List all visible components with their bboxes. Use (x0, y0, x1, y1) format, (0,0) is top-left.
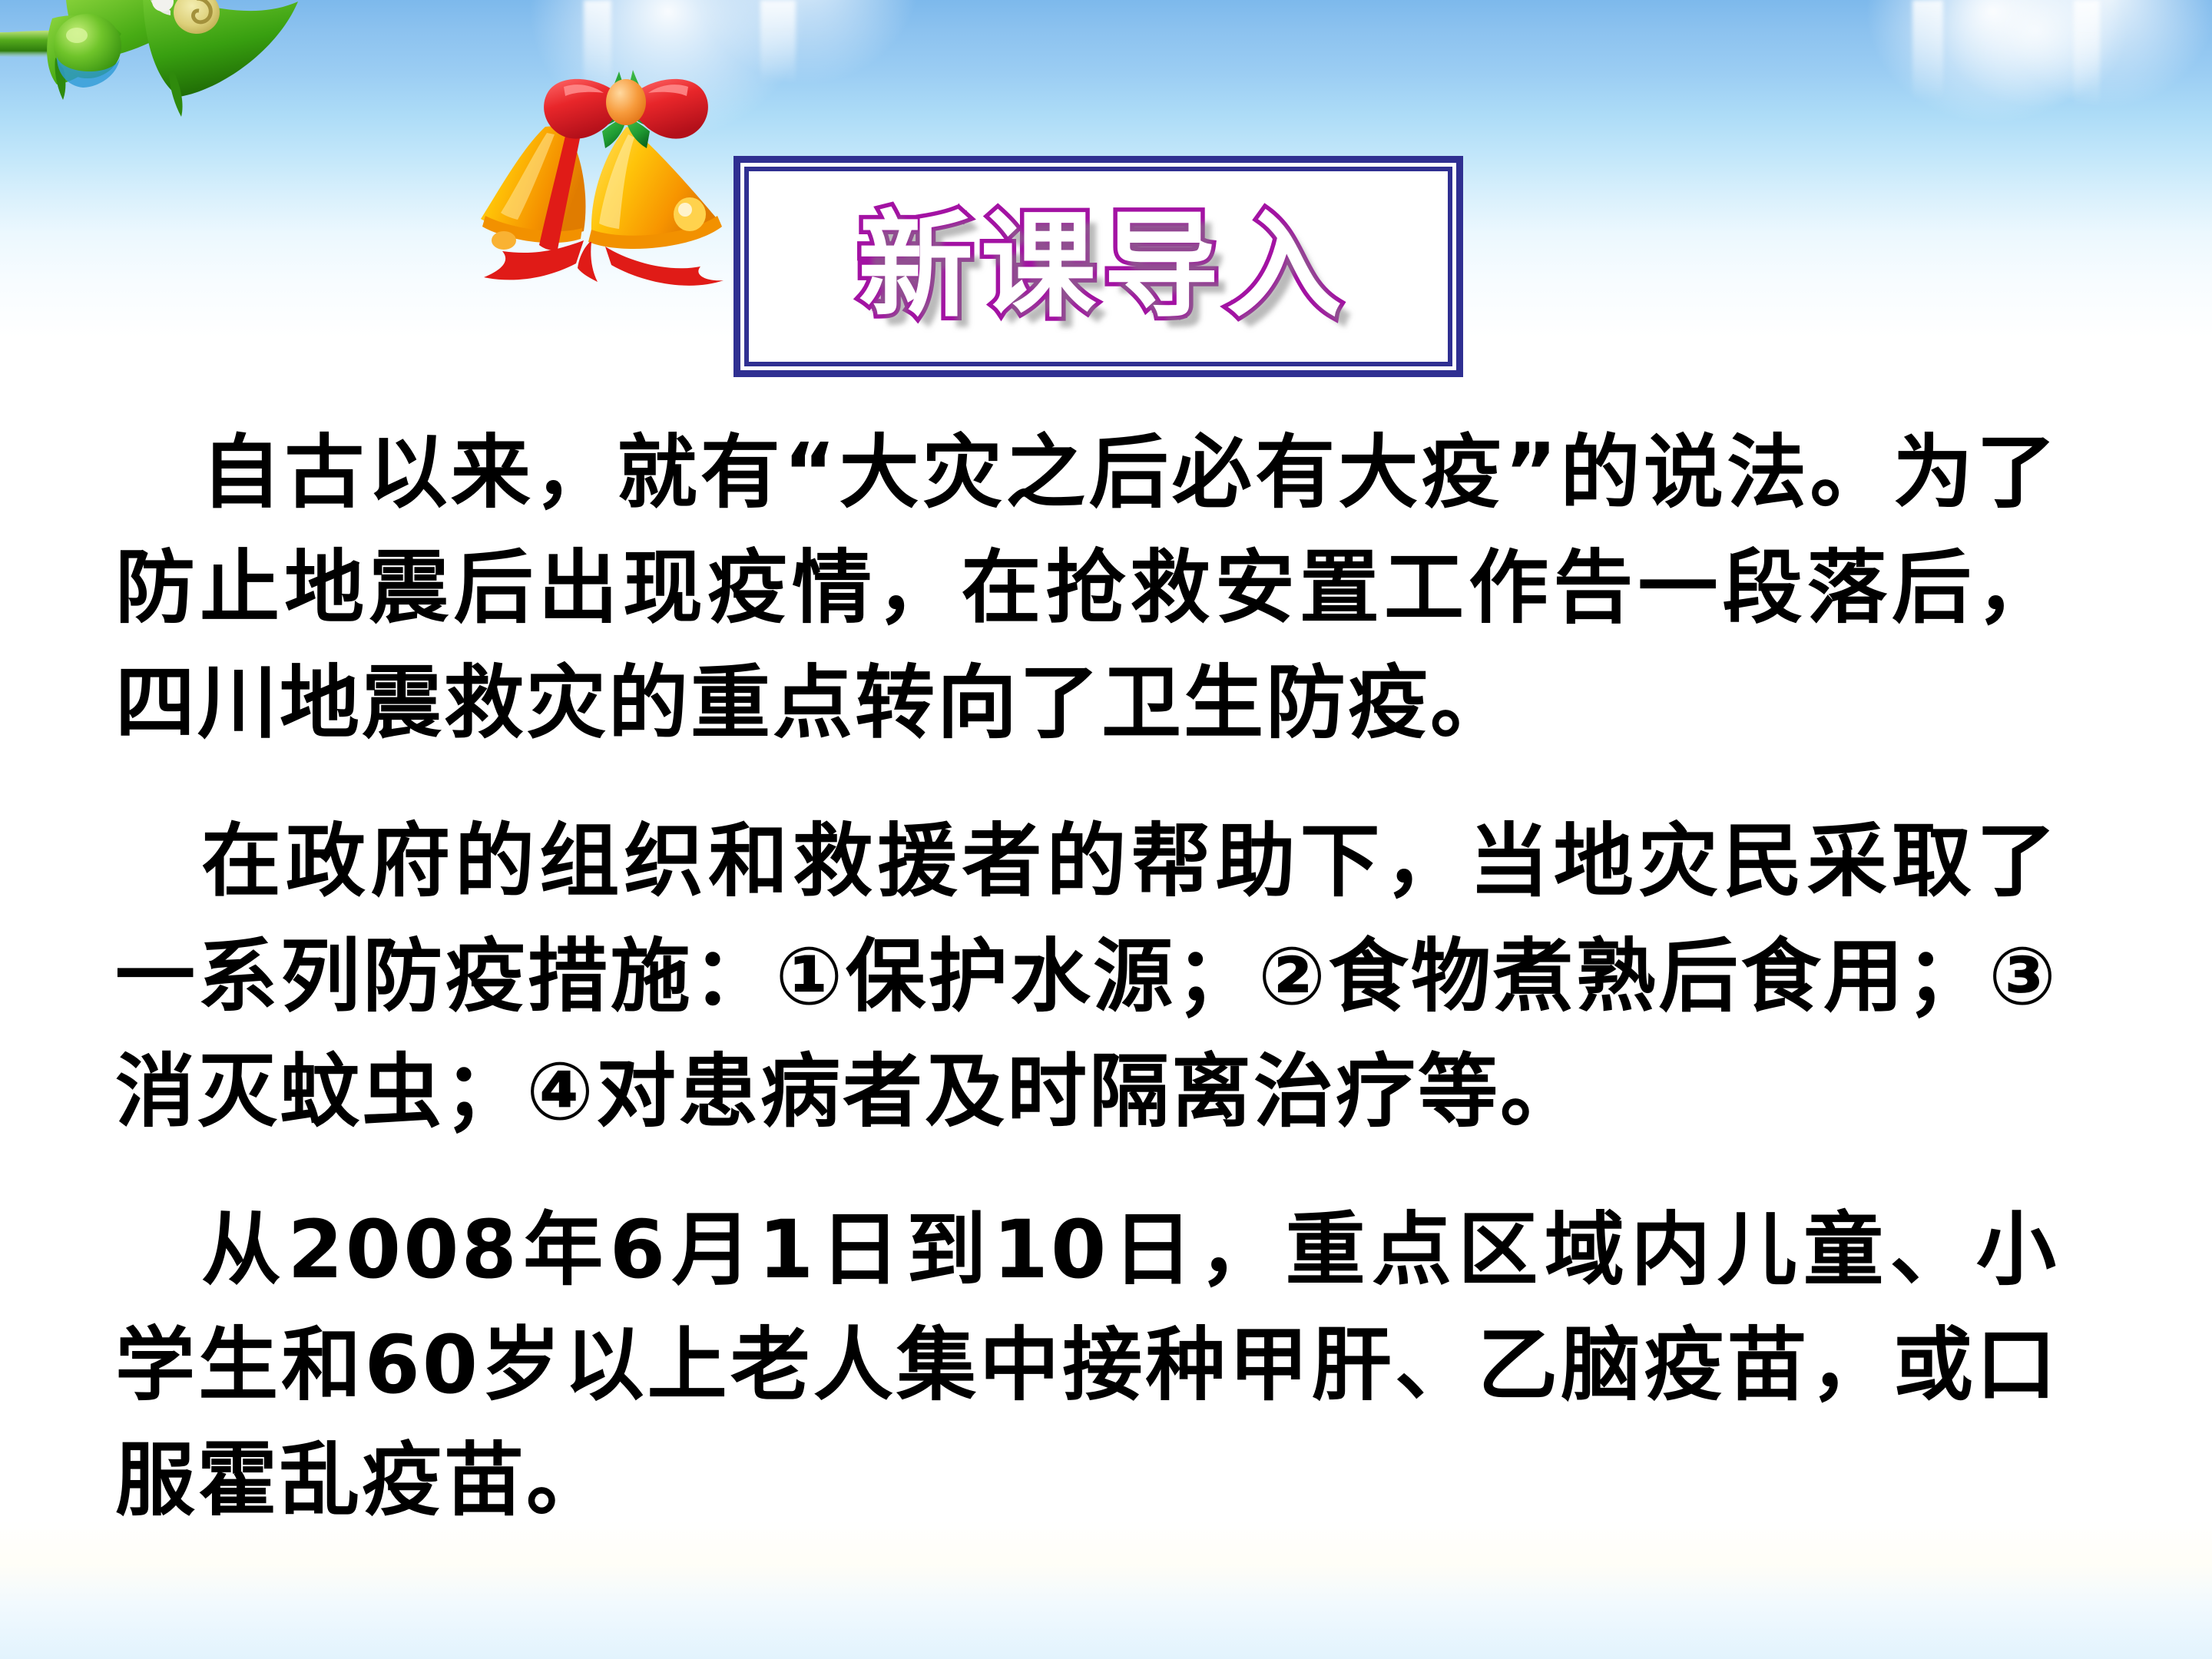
bamboo-leaf-snail-icon (0, 0, 315, 177)
paragraph-1: 自古以来，就有“大灾之后必有大疫”的说法。为了防止地震后出现疫情，在抢救安置工作… (115, 415, 2058, 760)
title-box: 新课导入 (733, 156, 1463, 377)
paragraph-2: 在政府的组织和救援者的帮助下，当地灾民采取了一系列防疫措施：①保护水源；②食物煮… (115, 803, 2058, 1149)
slide-canvas: 新课导入 自古以来，就有“大灾之后必有大疫”的说法。为了防止地震后出现疫情，在抢… (0, 0, 2212, 1659)
paragraph-3: 从2008年6月1日到10日，重点区域内儿童、小学生和60岁以上老人集中接种甲肝… (115, 1192, 2058, 1538)
page-title: 新课导入 (858, 209, 1349, 324)
body-text-block: 自古以来，就有“大灾之后必有大疫”的说法。为了防止地震后出现疫情，在抢救安置工作… (115, 415, 2058, 1538)
bottom-glow-background (0, 1521, 2212, 1659)
cloud-streak-icon (2074, 0, 2100, 108)
title-box-inner-border: 新课导入 (744, 167, 1452, 366)
cloud-streak-icon (1912, 0, 1943, 100)
